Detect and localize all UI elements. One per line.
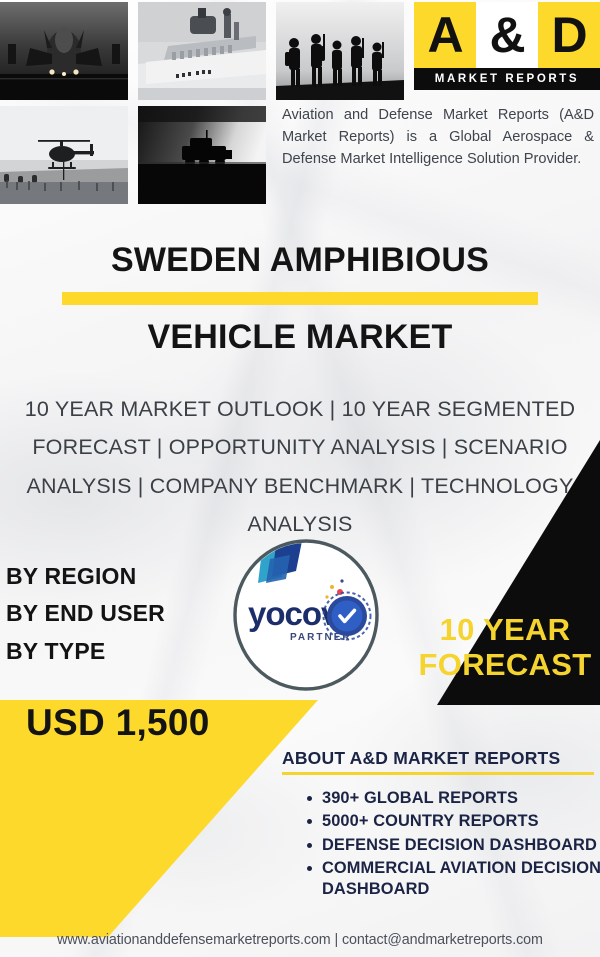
forecast-line-2: FORECAST <box>410 647 600 682</box>
list-item: COMMERCIAL AVIATION DECISION DASHBOARD <box>322 858 600 901</box>
page-title: SWEDEN AMPHIBIOUS VEHICLE MARKET <box>0 240 600 357</box>
forecast-callout: 10 YEAR FORECAST <box>410 612 600 683</box>
forecast-line-1: 10 YEAR <box>410 612 600 647</box>
segment-by-region: BY REGION <box>6 558 165 595</box>
title-divider-bar <box>62 292 538 305</box>
list-item: 5000+ COUNTRY REPORTS <box>322 811 600 832</box>
segment-by-type: BY TYPE <box>6 633 165 670</box>
about-bullet-list: 390+ GLOBAL REPORTS 5000+ COUNTRY REPORT… <box>300 788 600 903</box>
brand-logo: A & D MARKET REPORTS <box>414 2 600 90</box>
company-intro-text: Aviation and Defense Market Reports (A&D… <box>282 104 594 171</box>
about-section-heading: ABOUT A&D MARKET REPORTS <box>282 748 594 775</box>
logo-letter-amp: & <box>476 2 538 68</box>
logo-tagline: MARKET REPORTS <box>414 68 600 90</box>
logo-letter-row: A & D <box>414 2 600 68</box>
price-label: USD 1,500 <box>26 702 210 744</box>
yocova-partner-badge: yocova PARTNER <box>232 539 380 691</box>
logo-letter-a: A <box>414 2 476 68</box>
list-item: DEFENSE DECISION DASHBOARD <box>322 835 600 856</box>
footer-contact-line: www.aviationanddefensemarketreports.com … <box>0 932 600 948</box>
soldiers-photo <box>276 2 404 100</box>
segmentation-list: BY REGION BY END USER BY TYPE <box>6 558 165 670</box>
report-scope-subtitle: 10 YEAR MARKET OUTLOOK | 10 YEAR SEGMENT… <box>14 390 586 543</box>
fighter-jet-photo <box>0 2 128 100</box>
title-line-1: SWEDEN AMPHIBIOUS <box>0 240 600 280</box>
logo-letter-d: D <box>538 2 600 68</box>
report-cover-poster: A & D MARKET REPORTS Aviation and Defens… <box>0 0 600 957</box>
armored-vehicle-photo <box>138 106 266 204</box>
warship-photo <box>138 2 266 100</box>
header-photo-strip: A & D MARKET REPORTS Aviation and Defens… <box>0 0 600 215</box>
segment-by-end-user: BY END USER <box>6 595 165 632</box>
title-line-2: VEHICLE MARKET <box>0 317 600 357</box>
list-item: 390+ GLOBAL REPORTS <box>322 788 600 809</box>
helicopter-photo <box>0 106 128 204</box>
